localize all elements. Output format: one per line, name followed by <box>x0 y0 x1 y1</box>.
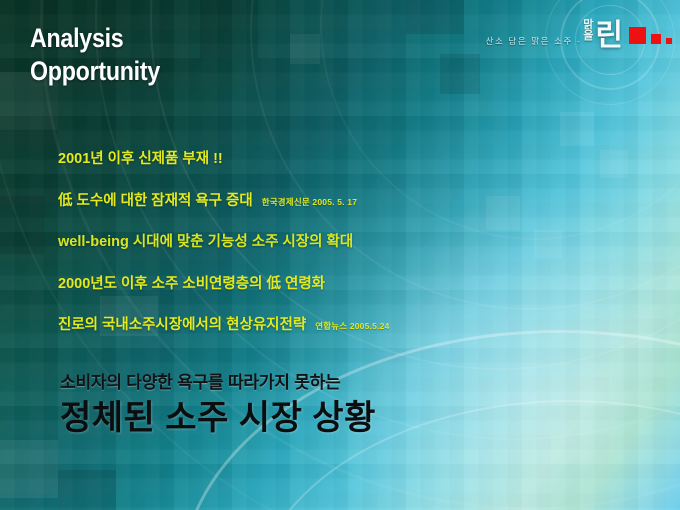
bullet-text: 2001년 이후 신제품 부재 !! <box>58 151 223 167</box>
list-item: 低 도수에 대한 잠재적 욕구 증대한국경제신문 2005. 5. 17 <box>58 194 638 209</box>
conclusion-subtitle: 소비자의 다양한 욕구를 따라가지 못하는 <box>60 374 376 393</box>
mosaic-block <box>290 34 320 64</box>
mosaic-block <box>440 54 480 94</box>
bullet-text: 2000년도 이후 소주 소비연령층의 低 연령화 <box>58 276 325 292</box>
logo-syllable-2: 을 <box>583 31 593 41</box>
logo-tagline: 산소 담은 맑은 소주 - <box>486 35 582 47</box>
mosaic-block <box>0 196 44 254</box>
bullet-citation: 연합뉴스 2005.5.24 <box>315 321 389 331</box>
bullet-citation: 한국경제신문 2005. 5. 17 <box>262 197 357 207</box>
logo-brand-main: 린 <box>595 21 623 51</box>
logo-square-large <box>629 27 646 44</box>
list-item: well-being 시대에 맞춘 기능성 소주 시장의 확대 <box>58 235 638 250</box>
presentation-slide: Analysis Opportunity 산소 담은 맑은 소주 - 맑 을 린… <box>0 0 680 510</box>
title-line-opportunity: Opportunity <box>30 55 160 88</box>
page-title: Analysis Opportunity <box>30 22 160 88</box>
mosaic-block <box>560 112 594 146</box>
conclusion-headline: 정체된 소주 시장 상황 <box>60 399 376 438</box>
logo-red-squares <box>629 27 672 44</box>
list-item: 진로의 국내소주시장에서의 현상유지전략연합뉴스 2005.5.24 <box>58 318 638 333</box>
mosaic-block <box>0 440 58 498</box>
logo-brand-small: 맑 을 <box>583 20 593 41</box>
logo-syllable-1: 맑 <box>583 20 593 30</box>
bullet-text: 低 도수에 대한 잠재적 욕구 증대 <box>58 193 253 209</box>
bullet-list: 2001년 이후 신제품 부재 !! 低 도수에 대한 잠재적 욕구 증대한국경… <box>58 152 638 360</box>
mosaic-block <box>58 470 116 510</box>
logo-square-small <box>666 38 672 44</box>
list-item: 2000년도 이후 소주 소비연령층의 低 연령화 <box>58 277 638 292</box>
bullet-text: well-being 시대에 맞춘 기능성 소주 시장의 확대 <box>58 234 353 250</box>
title-line-analysis: Analysis <box>30 23 123 53</box>
mosaic-block <box>200 0 258 58</box>
brand-logo: 산소 담은 맑은 소주 - 맑 을 린 <box>486 10 672 58</box>
bullet-text: 진로의 국내소주시장에서의 현상유지전략 <box>58 317 306 333</box>
conclusion-block: 소비자의 다양한 욕구를 따라가지 못하는 정체된 소주 시장 상황 <box>60 374 376 438</box>
mosaic-block <box>406 0 464 34</box>
list-item: 2001년 이후 신제품 부재 !! <box>58 152 638 167</box>
logo-square-medium <box>651 34 661 44</box>
